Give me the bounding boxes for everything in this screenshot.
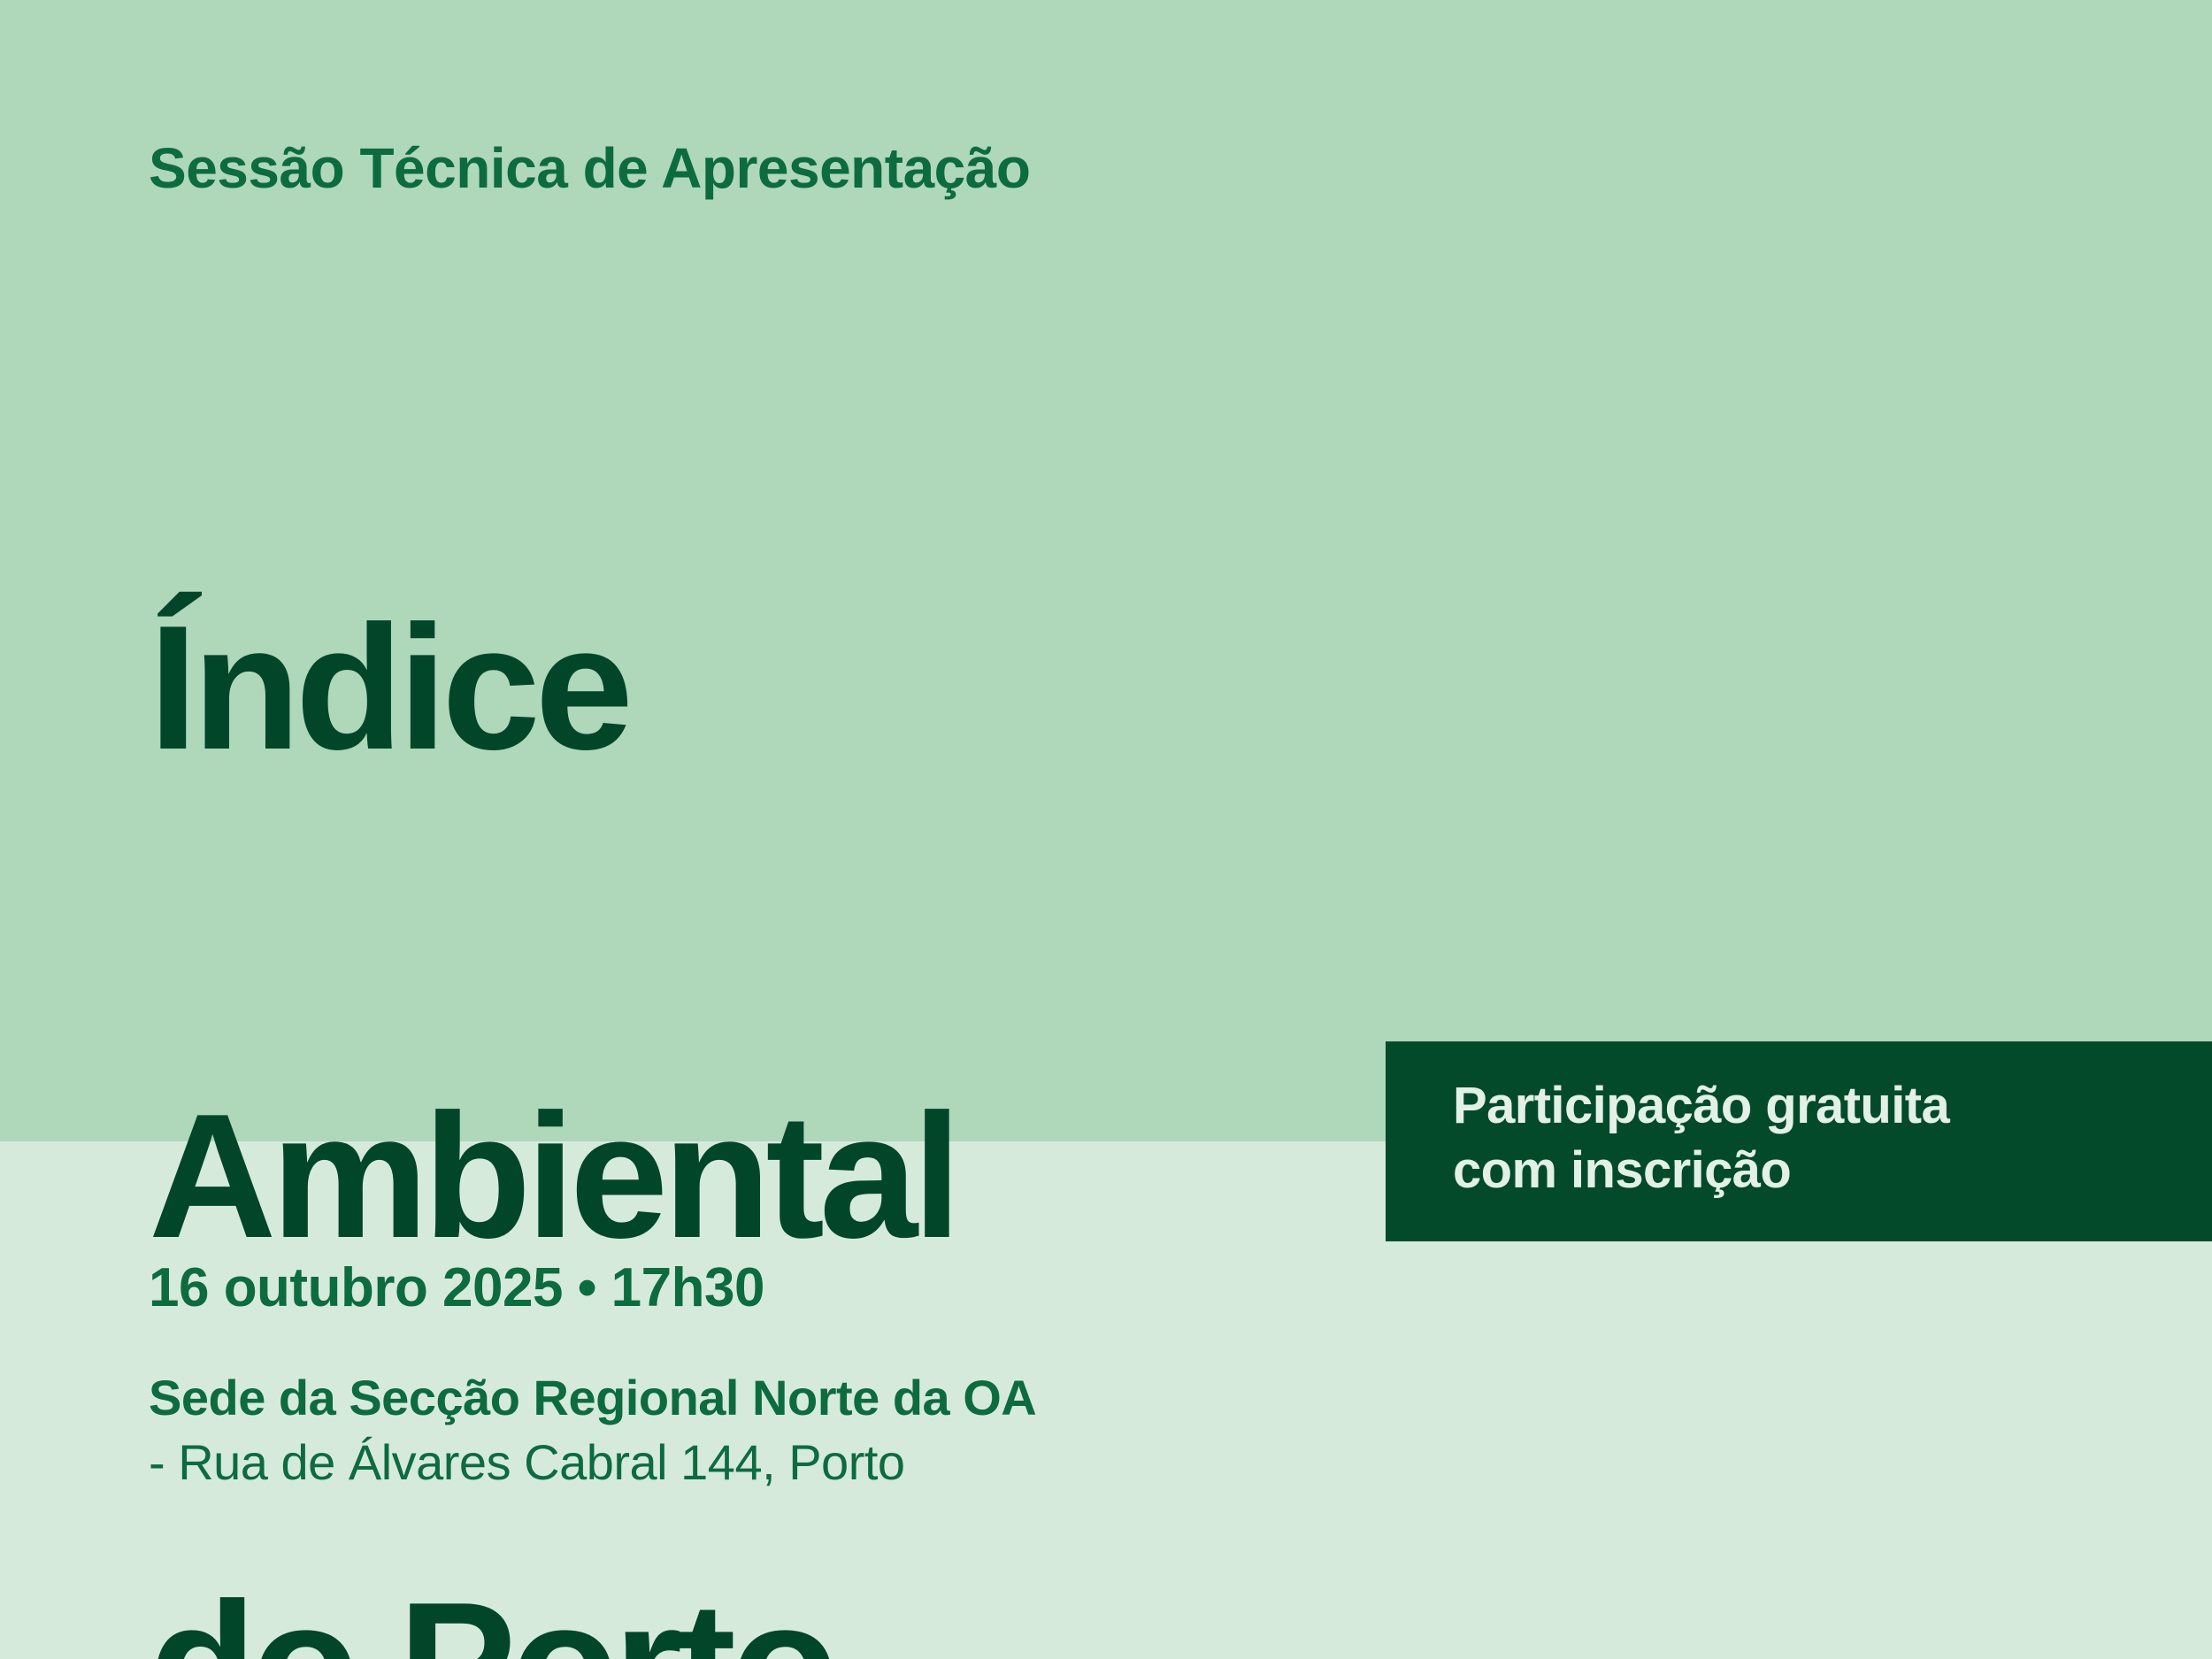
callout-line-1: Participação gratuita — [1453, 1073, 2212, 1138]
event-kicker: Sessão Técnica de Apresentação — [149, 137, 1030, 199]
venue-name: Sede da Secção Regional Norte da OA — [149, 1370, 1036, 1427]
event-datetime: 16 outubro 2025 • 17h30 — [149, 1258, 764, 1318]
venue-address: - Rua de Álvares Cabral 144, Porto — [149, 1434, 1036, 1492]
page-title-line-1: Índice — [149, 607, 956, 770]
callout-line-2: com inscrição — [1453, 1138, 2212, 1202]
event-poster: Sessão Técnica de Apresentação Índice Am… — [0, 0, 2212, 1659]
registration-callout-box: Participação gratuita com inscrição — [1386, 1041, 2212, 1241]
event-venue: Sede da Secção Regional Norte da OA - Ru… — [149, 1370, 1036, 1492]
page-title-line-3: do Porto — [149, 1584, 956, 1659]
page-title-line-2: Ambiental — [149, 1095, 956, 1258]
